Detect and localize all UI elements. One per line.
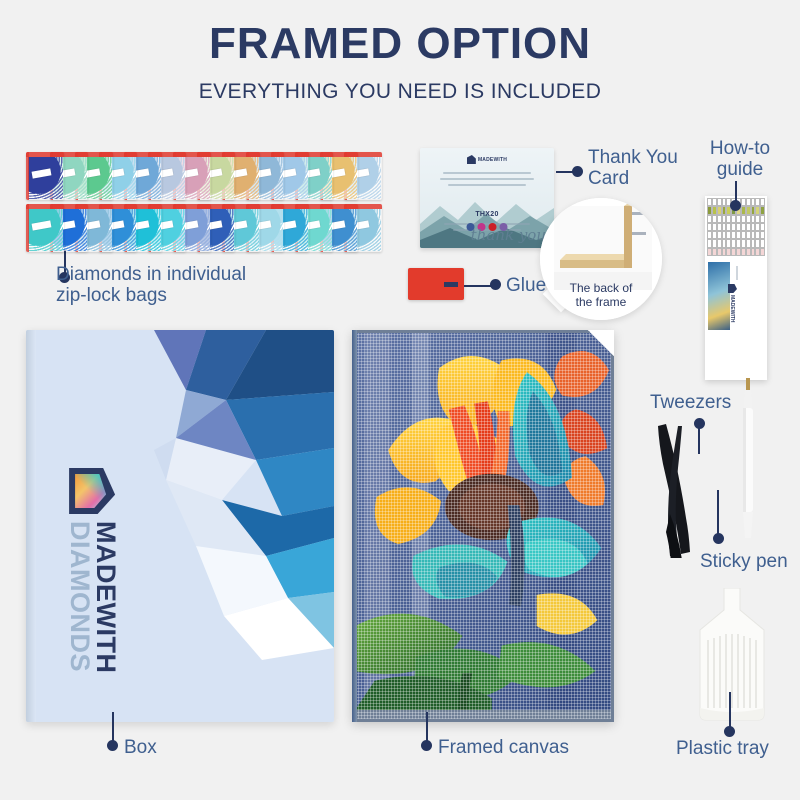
framed-canvas — [352, 330, 614, 722]
box-spine — [26, 330, 36, 722]
dot-thank-you — [572, 166, 583, 177]
dot-sticky-pen — [713, 533, 724, 544]
dot-framed-canvas — [421, 740, 432, 751]
leader-box — [112, 712, 114, 742]
card-script-text: thank you — [471, 229, 546, 242]
box-brand-wordmark: MADEWITH DIAMONDS — [66, 521, 118, 673]
leader-glue — [464, 285, 492, 287]
guide-chart-cell — [760, 248, 765, 256]
guide-chart-cell — [760, 215, 765, 223]
page-title: FRAMED OPTION — [0, 22, 800, 66]
dot-box — [107, 740, 118, 751]
callout-label-thank-you: Thank You Card — [588, 147, 708, 190]
tweezers-icon — [652, 418, 704, 558]
canvas-frame-edge — [352, 330, 357, 722]
callout-label-diamonds: Diamonds in individual zip-lock bags — [56, 264, 286, 307]
guide-chart-cell — [760, 239, 765, 247]
callout-label-sticky-pen: Sticky pen — [700, 551, 800, 572]
callout-label-plastic-tray: Plastic tray — [676, 738, 796, 759]
card-logo: MADEWITH — [467, 155, 507, 164]
plastic-tray — [680, 588, 784, 722]
leader-tweezers — [698, 428, 700, 454]
guide-chart-row — [707, 248, 765, 256]
guide-chart-row — [707, 239, 765, 247]
guide-chart-cell — [760, 198, 765, 206]
sticky-pen — [738, 378, 758, 542]
guide-divider — [736, 266, 738, 280]
thank-you-card: MADEWITH THX20 thank you — [420, 148, 554, 248]
diamond-logo-icon — [467, 155, 476, 164]
bag-zip-seal — [26, 204, 64, 209]
callout-label-box: Box — [124, 737, 224, 758]
glue-bottle — [408, 268, 464, 300]
guide-chart-row — [707, 223, 765, 231]
card-promo-code: THX20 — [475, 211, 498, 218]
diamond-logo-icon — [69, 468, 115, 514]
bag-zip-seal — [26, 152, 64, 157]
dot-plastic-tray — [724, 726, 735, 737]
guide-chart-cell — [760, 223, 765, 231]
sticky-pen-icon — [738, 378, 758, 542]
leader-framed-canvas — [426, 712, 428, 742]
diamond-logo-icon — [728, 284, 737, 293]
speech-bubble-frame-back: The back of the frame — [540, 198, 662, 320]
diamond-bag — [26, 152, 64, 200]
guide-chart-cell — [760, 231, 765, 239]
leader-plastic-tray — [729, 692, 731, 728]
guide-chart-row — [707, 231, 765, 239]
card-brand-text: MADEWITH — [478, 157, 507, 163]
diamond-bag-row-top — [26, 152, 382, 200]
plastic-tray-icon — [680, 588, 784, 722]
canvas-peel-corner — [588, 330, 614, 356]
guide-brand-text: MADEWITH — [730, 295, 736, 323]
tweezers — [652, 418, 704, 558]
bag-zip-edge — [26, 152, 29, 200]
guide-preview-image — [708, 262, 730, 330]
box-brand-line1: MADEWITH — [92, 521, 118, 673]
diamond-bag-row-bottom — [26, 204, 382, 252]
box-brand-logo-inner: MADEWITH DIAMONDS — [66, 468, 118, 673]
dot-how-to — [730, 200, 741, 211]
bubble-caption: The back of the frame — [540, 281, 662, 310]
box-brand-logo: MADEWITH DIAMONDS — [118, 468, 323, 520]
page-subtitle: EVERYTHING YOU NEED IS INCLUDED — [0, 80, 800, 104]
diamond-grid-texture — [355, 333, 611, 719]
box-brand-line2: DIAMONDS — [66, 521, 92, 673]
callout-label-how-to: How-to guide — [694, 138, 786, 181]
card-message-lines — [439, 172, 536, 190]
bag-zip-edge — [26, 204, 29, 252]
leader-sticky-pen — [717, 490, 719, 534]
glue-label-mark — [444, 282, 458, 287]
callout-label-framed-canvas: Framed canvas — [438, 737, 618, 758]
how-to-guide: MADEWITH — [705, 196, 767, 380]
guide-chart-row — [707, 215, 765, 223]
guide-chart-cell — [760, 206, 765, 214]
diamond-bag — [26, 204, 64, 252]
infographic-stage: FRAMED OPTION EVERYTHING YOU NEED IS INC… — [0, 0, 800, 800]
guide-logo: MADEWITH — [728, 284, 737, 323]
dot-glue — [490, 279, 501, 290]
